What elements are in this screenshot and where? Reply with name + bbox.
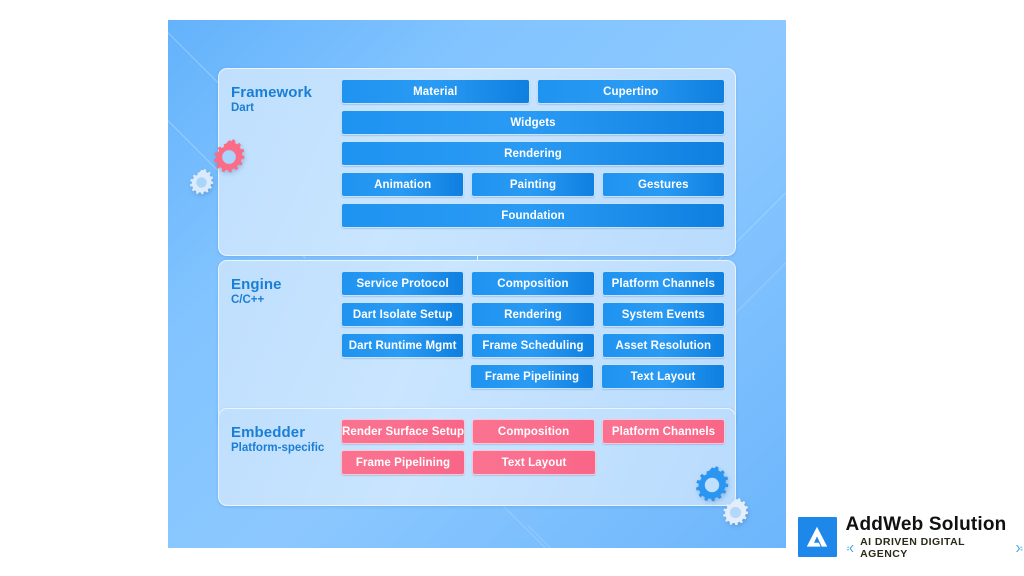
box-row: Service Protocol Composition Platform Ch… <box>341 271 725 296</box>
addweb-a-mark-icon <box>798 517 837 557</box>
layer-framework-rows: Material Cupertino Widgets Rendering Ani… <box>341 79 725 234</box>
box-frame-pipelining[interactable]: Frame Pipelining <box>470 364 594 389</box>
box-row: Dart Runtime Mgmt Frame Scheduling Asset… <box>341 333 725 358</box>
box-render-surface-setup[interactable]: Render Surface Setup <box>341 419 465 444</box>
box-composition[interactable]: Composition <box>472 419 595 444</box>
layer-framework: Framework Dart Material Cupertino Widget… <box>218 68 736 256</box>
box-gestures[interactable]: Gestures <box>602 172 725 197</box>
box-foundation[interactable]: Foundation <box>341 203 725 228</box>
box-asset-resolution[interactable]: Asset Resolution <box>602 333 725 358</box>
box-row: Dart Isolate Setup Rendering System Even… <box>341 302 725 327</box>
logo-text-block: AddWeb Solution AI DRIVEN DIGITAL AGENCY <box>846 514 1024 560</box>
decorative-diagonal-line <box>728 214 786 321</box>
box-dart-isolate-setup[interactable]: Dart Isolate Setup <box>341 302 464 327</box>
layer-embedder-subtitle: Platform-specific <box>231 442 324 455</box>
box-row: Frame Pipelining Text Layout <box>341 364 725 389</box>
box-system-events[interactable]: System Events <box>602 302 725 327</box>
layer-engine-rows: Service Protocol Composition Platform Ch… <box>341 271 725 395</box>
box-widgets[interactable]: Widgets <box>341 110 725 135</box>
logo-tagline: AI DRIVEN DIGITAL AGENCY <box>860 536 1009 560</box>
logo-tagline-row: AI DRIVEN DIGITAL AGENCY <box>846 536 1024 560</box>
diagram-stage: Framework Dart Material Cupertino Widget… <box>168 20 786 548</box>
box-platform-channels[interactable]: Platform Channels <box>602 271 725 296</box>
box-spacer <box>341 364 463 389</box>
box-row: Render Surface Setup Composition Platfor… <box>341 419 725 444</box>
brand-logo[interactable]: AddWeb Solution AI DRIVEN DIGITAL AGENCY <box>798 514 1024 560</box>
box-painting[interactable]: Painting <box>471 172 594 197</box>
box-platform-channels[interactable]: Platform Channels <box>602 419 725 444</box>
layer-engine-title: Engine <box>231 276 282 293</box>
box-text-layout[interactable]: Text Layout <box>472 450 596 475</box>
box-row: Animation Painting Gestures <box>341 172 725 197</box>
chevron-right-icon <box>1013 543 1024 554</box>
logo-company-name: AddWeb Solution <box>846 514 1024 535</box>
gear-icon-light <box>720 497 751 528</box>
box-frame-scheduling[interactable]: Frame Scheduling <box>471 333 594 358</box>
box-service-protocol[interactable]: Service Protocol <box>341 271 464 296</box>
box-cupertino[interactable]: Cupertino <box>537 79 726 104</box>
box-material[interactable]: Material <box>341 79 530 104</box>
box-row: Material Cupertino <box>341 79 725 104</box>
layer-embedder-rows: Render Surface Setup Composition Platfor… <box>341 419 725 481</box>
screenshot-root: Framework Dart Material Cupertino Widget… <box>0 0 1024 576</box>
layer-embedder: Embedder Platform-specific Render Surfac… <box>218 408 736 506</box>
layer-framework-title: Framework <box>231 84 312 101</box>
layer-embedder-title: Embedder <box>231 424 305 441</box>
layer-framework-subtitle: Dart <box>231 102 254 115</box>
box-text-layout[interactable]: Text Layout <box>601 364 725 389</box>
box-animation[interactable]: Animation <box>341 172 464 197</box>
box-frame-pipelining[interactable]: Frame Pipelining <box>341 450 465 475</box>
box-composition[interactable]: Composition <box>471 271 594 296</box>
box-row: Rendering <box>341 141 725 166</box>
decorative-diagonal-line <box>497 500 625 548</box>
box-row: Frame Pipelining Text Layout <box>341 450 725 475</box>
chevron-left-icon <box>846 543 857 554</box>
gear-icon-light <box>187 168 216 197</box>
box-rendering[interactable]: Rendering <box>341 141 725 166</box>
box-dart-runtime-mgmt[interactable]: Dart Runtime Mgmt <box>341 333 464 358</box>
layer-engine-subtitle: C/C++ <box>231 294 264 307</box>
box-row: Foundation <box>341 203 725 228</box>
layer-engine: Engine C/C++ Service Protocol Compositio… <box>218 260 736 428</box>
box-row: Widgets <box>341 110 725 135</box>
box-rendering[interactable]: Rendering <box>471 302 594 327</box>
